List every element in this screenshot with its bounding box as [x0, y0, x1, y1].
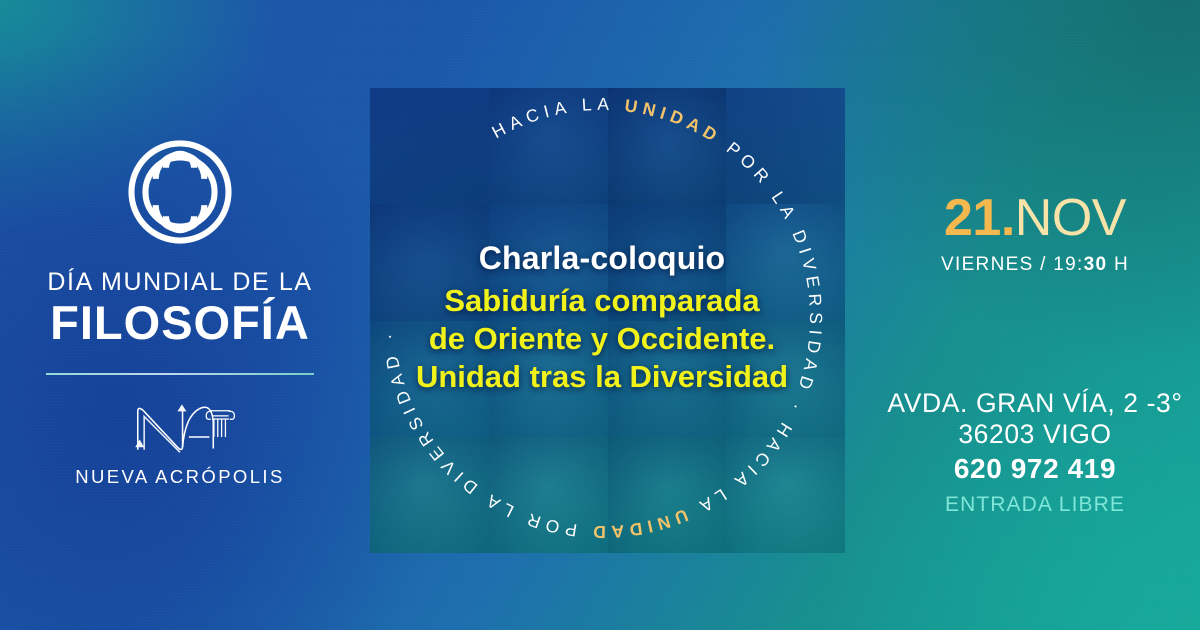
event-weekday: VIERNES	[941, 254, 1034, 275]
poster-canvas: DÍA MUNDIAL DE LA FILOSOFÍA	[0, 0, 1200, 630]
venue-block: AVDA. GRAN VÍA, 2 -3° 36203 VIGO 620 972…	[887, 388, 1182, 517]
address-line-2: 36203 VIGO	[887, 419, 1182, 450]
headline-group: Charla-coloquio Sabiduría comparada de O…	[337, 53, 867, 583]
organization-block: NUEVA ACRÓPOLIS	[75, 397, 284, 488]
event-time: VIERNES / 19:30 H	[941, 254, 1129, 276]
nueva-acropolis-monogram	[116, 397, 244, 459]
title-line-2: FILOSOFÍA	[47, 298, 312, 347]
organization-name: NUEVA ACRÓPOLIS	[75, 466, 284, 488]
ionic-column-icon	[206, 411, 234, 437]
page-title: DÍA MUNDIAL DE LA FILOSOFÍA	[47, 268, 312, 347]
world-philosophy-day-logo	[124, 136, 236, 248]
time-hour: 19:	[1053, 254, 1083, 275]
headline-body: Sabiduría comparada de Oriente y Occiden…	[416, 282, 788, 395]
title-line-1: DÍA MUNDIAL DE LA	[47, 268, 312, 296]
time-unit: H	[1107, 254, 1129, 275]
time-separator: /	[1034, 254, 1054, 275]
contact-phone[interactable]: 620 972 419	[887, 453, 1182, 485]
event-date-block: 21.NOV VIERNES / 19:30 H	[941, 192, 1129, 276]
divider	[46, 373, 314, 375]
headline-kicker: Charla-coloquio	[479, 240, 726, 277]
address-line-1: AVDA. GRAN VÍA, 2 -3°	[887, 388, 1182, 419]
event-date: 21.NOV	[941, 192, 1129, 244]
admission-notice: ENTRADA LIBRE	[887, 493, 1182, 517]
headline-line-1: Sabiduría comparada	[416, 282, 788, 320]
left-branding-column: DÍA MUNDIAL DE LA FILOSOFÍA	[0, 0, 360, 630]
center-artwork: HACIA LA UNIDAD POR LA DIVERSIDAD · HACI…	[337, 53, 867, 583]
right-info-column: 21.NOV VIERNES / 19:30 H AVDA. GRAN VÍA,…	[870, 0, 1200, 630]
time-minutes: 30	[1084, 254, 1108, 275]
headline-line-3: Unidad tras la Diversidad	[416, 358, 788, 396]
date-month: NOV	[1015, 189, 1126, 247]
date-day: 21.	[944, 189, 1015, 247]
headline-line-2: de Oriente y Occidente.	[416, 320, 788, 358]
